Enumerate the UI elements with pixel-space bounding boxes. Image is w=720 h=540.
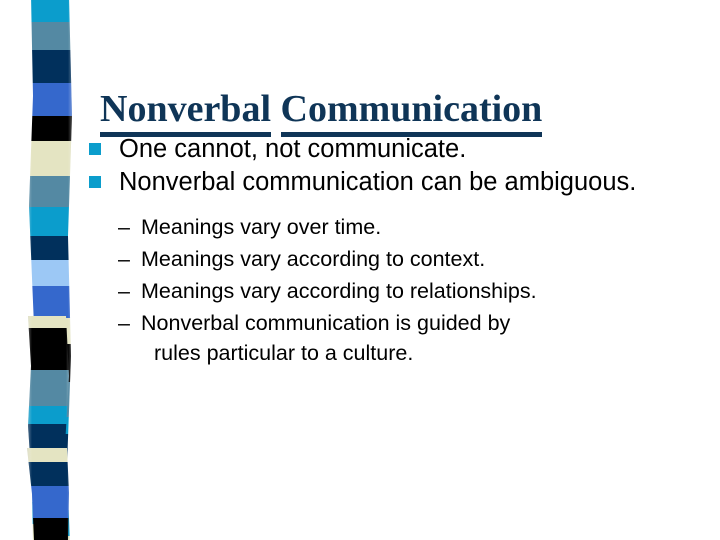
- dash-bullet-icon: –: [118, 212, 130, 242]
- title-word-1: Nonverbal: [100, 87, 271, 137]
- dash-bullet-icon: –: [118, 244, 130, 274]
- sub-bullet-text-line1: Nonverbal communication is guided by: [141, 308, 696, 338]
- dash-bullet-icon: –: [118, 276, 130, 306]
- sub-bullet-item: – Nonverbal communication is guided by r…: [118, 308, 696, 368]
- sub-bullet-text: Meanings vary according to relationships…: [141, 276, 696, 306]
- sub-bullet-text: Meanings vary according to context.: [141, 244, 696, 274]
- square-bullet-icon: [89, 176, 101, 188]
- slide-title: Nonverbal Communication: [100, 87, 700, 137]
- sub-bullet-text-line2: rules particular to a culture.: [141, 338, 696, 368]
- bullet-text: Nonverbal communication can be ambiguous…: [119, 168, 636, 196]
- bullet-text: One cannot, not communicate.: [119, 135, 466, 163]
- sub-bullet-item: – Meanings vary over time.: [118, 212, 696, 242]
- vertical-color-bar-bottom: [22, 448, 78, 540]
- sub-bullet-item: – Meanings vary according to relationshi…: [118, 276, 696, 306]
- slide-body: One cannot, not communicate. Nonverbal c…: [86, 134, 696, 370]
- sub-bullet-list: – Meanings vary over time. – Meanings va…: [86, 212, 696, 368]
- title-word-2: Communication: [281, 87, 543, 137]
- sub-bullet-text: Meanings vary over time.: [141, 212, 696, 242]
- slide-canvas: Nonverbal Communication One cannot, not …: [0, 0, 720, 540]
- square-bullet-icon: [89, 143, 101, 155]
- sub-bullet-item: – Meanings vary according to context.: [118, 244, 696, 274]
- dash-bullet-icon: –: [118, 308, 130, 338]
- bullet-item: Nonverbal communication can be ambiguous…: [86, 167, 696, 198]
- bullet-item: One cannot, not communicate.: [86, 134, 696, 165]
